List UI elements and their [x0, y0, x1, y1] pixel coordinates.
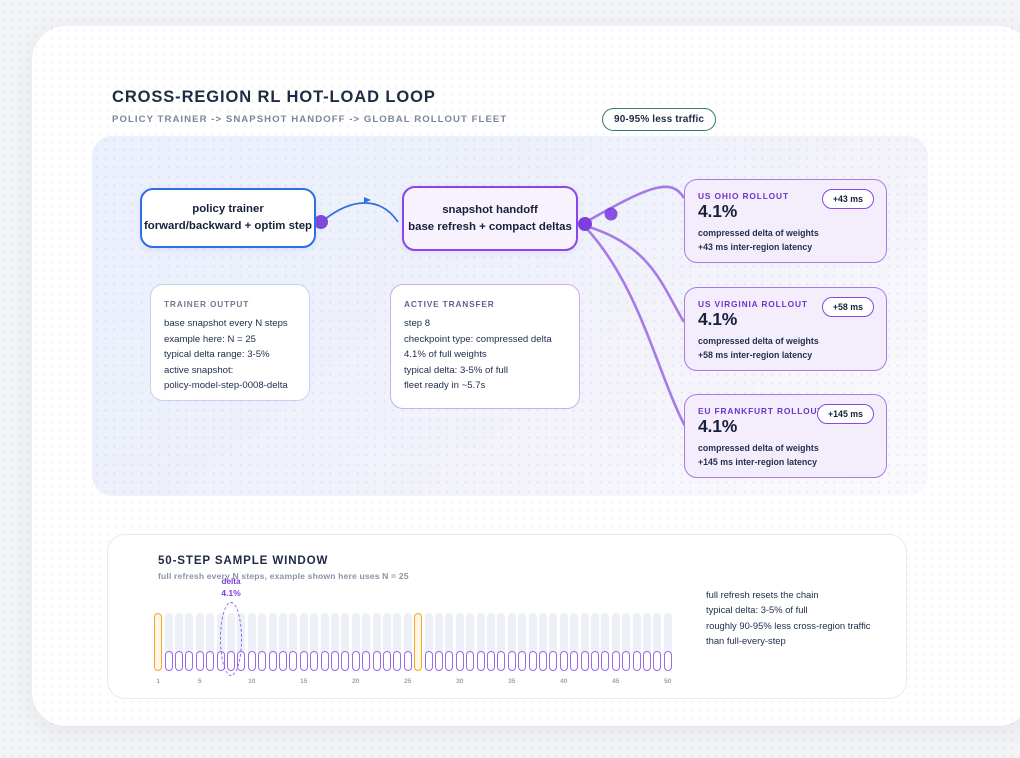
chart-bar-delta — [612, 651, 620, 671]
step-chart: 15101520253035404550delta4.1% — [153, 605, 673, 685]
chart-bar-delta — [206, 651, 214, 671]
header: CROSS-REGION RL HOT-LOAD LOOP POLICY TRA… — [112, 88, 507, 125]
transfer-card-title: ACTIVE TRANSFER — [404, 299, 566, 309]
chart-x-tick: 10 — [248, 678, 255, 685]
chart-bar-delta — [300, 651, 308, 671]
chart-bar-delta — [477, 651, 485, 671]
chart-bar-delta — [435, 651, 443, 671]
transfer-card-line: typical delta: 3-5% of full — [404, 363, 566, 379]
node-policy-trainer[interactable]: policy trainer forward/backward + optim … — [140, 188, 316, 248]
chart-bar-delta — [456, 651, 464, 671]
chart-x-tick: 5 — [198, 678, 202, 685]
region-detail: compressed delta of weights — [698, 226, 873, 241]
chart-bar-delta — [529, 651, 537, 671]
chart-bar-delta — [508, 651, 516, 671]
chart-bar-full-refresh — [154, 613, 162, 671]
chart-bar-delta — [518, 651, 526, 671]
chart-bar-delta — [643, 651, 651, 671]
chart-x-tick: 35 — [508, 678, 515, 685]
region-card-us-ohio[interactable]: US OHIO ROLLOUT 4.1% compressed delta of… — [684, 179, 887, 263]
chart-bar-full-refresh — [414, 613, 422, 671]
note-line: typical delta: 3-5% of full — [706, 602, 870, 617]
chart-bar-delta — [466, 651, 474, 671]
chart-bar-delta — [487, 651, 495, 671]
chart-bar-delta — [497, 651, 505, 671]
chart-bar-delta — [601, 651, 609, 671]
active-transfer-card: ACTIVE TRANSFER step 8 checkpoint type: … — [390, 284, 580, 409]
trainer-card-line: example here: N = 25 — [164, 332, 296, 348]
chart-bar-delta — [362, 651, 370, 671]
region-card-us-virginia[interactable]: US VIRGINIA ROLLOUT 4.1% compressed delt… — [684, 287, 887, 371]
chart-bar-delta — [279, 651, 287, 671]
transfer-card-line: fleet ready in ~5.7s — [404, 378, 566, 394]
chart-bar-delta — [248, 651, 256, 671]
region-detail: +43 ms inter-region latency — [698, 240, 873, 255]
chart-x-tick: 25 — [404, 678, 411, 685]
badge-traffic: 90-95% less traffic — [602, 108, 716, 131]
sample-window-panel: 50-STEP SAMPLE WINDOW full refresh every… — [107, 534, 907, 699]
node-snapshot-handoff[interactable]: snapshot handoff base refresh + compact … — [402, 186, 578, 251]
region-detail: compressed delta of weights — [698, 441, 873, 456]
note-line: roughly 90-95% less cross-region traffic — [706, 618, 870, 633]
node-handoff-line1: snapshot handoff — [442, 202, 538, 219]
note-line: than full-every-step — [706, 633, 870, 648]
chart-x-tick: 15 — [300, 678, 307, 685]
chart-bar-delta — [570, 651, 578, 671]
chart-bar-delta — [633, 651, 641, 671]
chart-x-tick: 1 — [156, 678, 160, 685]
chart-bar-delta — [196, 651, 204, 671]
chart-bar-delta — [393, 651, 401, 671]
chart-x-tick: 45 — [612, 678, 619, 685]
chart-bar-delta — [591, 651, 599, 671]
chart-bar-delta — [560, 651, 568, 671]
chart-bar-delta — [539, 651, 547, 671]
note-line: full refresh resets the chain — [706, 587, 870, 602]
region-latency-badge: +58 ms — [822, 297, 874, 317]
sample-window-notes: full refresh resets the chain typical de… — [706, 587, 870, 649]
region-latency-badge: +43 ms — [822, 189, 874, 209]
region-latency-badge: +145 ms — [817, 404, 874, 424]
chart-bar-delta — [289, 651, 297, 671]
chart-bar-delta — [269, 651, 277, 671]
chart-bar-delta — [310, 651, 318, 671]
chart-x-tick: 30 — [456, 678, 463, 685]
chart-x-tick: 50 — [664, 678, 671, 685]
region-detail: +58 ms inter-region latency — [698, 348, 873, 363]
chart-bar-delta — [258, 651, 266, 671]
chart-bar-delta — [321, 651, 329, 671]
flow-canvas: policy trainer forward/backward + optim … — [92, 136, 928, 496]
transfer-card-line: 4.1% of full weights — [404, 347, 566, 363]
chart-bar-delta — [383, 651, 391, 671]
node-handoff-line2: base refresh + compact deltas — [408, 219, 572, 236]
chart-bar-delta — [165, 651, 173, 671]
chart-bar-delta — [352, 651, 360, 671]
chart-bar-delta — [331, 651, 339, 671]
trainer-output-card: TRAINER OUTPUT base snapshot every N ste… — [150, 284, 310, 401]
chart-x-tick: 40 — [560, 678, 567, 685]
chart-x-tick: 20 — [352, 678, 359, 685]
chart-bar-delta — [404, 651, 412, 671]
chart-highlight-ellipse — [220, 602, 242, 676]
chart-bar-delta — [664, 651, 672, 671]
sample-window-title: 50-STEP SAMPLE WINDOW — [158, 554, 328, 567]
node-trainer-line1: policy trainer — [192, 201, 264, 218]
chart-bar-delta — [653, 651, 661, 671]
chart-bar-delta — [425, 651, 433, 671]
chart-bar-delta — [445, 651, 453, 671]
trainer-card-line: base snapshot every N steps — [164, 316, 296, 332]
chart-bar-delta — [175, 651, 183, 671]
node-trainer-line2: forward/backward + optim step — [144, 218, 312, 235]
region-card-eu-frankfurt[interactable]: EU FRANKFURT ROLLOUT 4.1% compressed del… — [684, 394, 887, 478]
page-subtitle: POLICY TRAINER -> SNAPSHOT HANDOFF -> GL… — [112, 114, 507, 125]
transfer-card-line: step 8 — [404, 316, 566, 332]
chart-highlight-title: delta — [221, 577, 241, 588]
chart-bar-delta — [341, 651, 349, 671]
page-title: CROSS-REGION RL HOT-LOAD LOOP — [112, 88, 507, 107]
region-detail: +145 ms inter-region latency — [698, 455, 873, 470]
trainer-card-line: policy-model-step-0008-delta — [164, 378, 296, 394]
trainer-card-line: typical delta range: 3-5% — [164, 347, 296, 363]
chart-highlight-label: delta4.1% — [221, 577, 241, 599]
region-detail: compressed delta of weights — [698, 334, 873, 349]
trainer-card-title: TRAINER OUTPUT — [164, 299, 296, 309]
chart-highlight-value: 4.1% — [221, 588, 241, 599]
chart-bar-delta — [185, 651, 193, 671]
chart-bar-delta — [581, 651, 589, 671]
chart-bar-delta — [373, 651, 381, 671]
page-card: CROSS-REGION RL HOT-LOAD LOOP POLICY TRA… — [32, 26, 1020, 726]
chart-bar-delta — [622, 651, 630, 671]
transfer-card-line: checkpoint type: compressed delta — [404, 332, 566, 348]
chart-bar-delta — [549, 651, 557, 671]
trainer-card-line: active snapshot: — [164, 363, 296, 379]
sample-window-subtitle: full refresh every N steps, example show… — [158, 571, 409, 581]
